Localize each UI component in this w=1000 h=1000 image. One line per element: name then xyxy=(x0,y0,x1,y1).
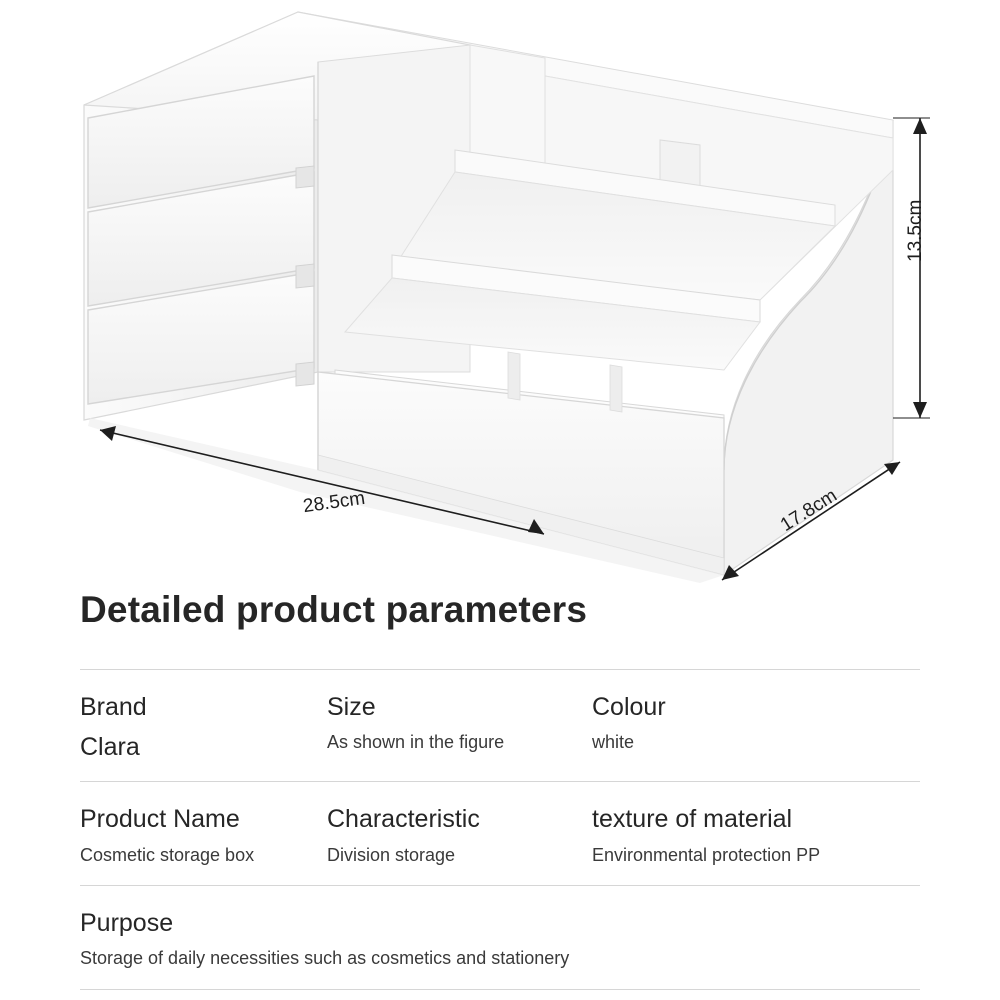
param-value: Storage of daily necessities such as cos… xyxy=(80,947,906,970)
param-value: Division storage xyxy=(327,844,578,867)
page-title: Detailed product parameters xyxy=(80,590,920,631)
param-cell-purpose: Purpose Storage of daily necessities suc… xyxy=(80,908,920,971)
param-key: Size xyxy=(327,692,578,723)
param-value: Cosmetic storage box xyxy=(80,844,313,867)
param-cell-material: texture of material Environmental protec… xyxy=(592,804,920,867)
storage-box-drawing xyxy=(0,0,1000,590)
param-key: Product Name xyxy=(80,804,313,835)
param-key: Brand xyxy=(80,692,313,723)
param-cell-characteristic: Characteristic Division storage xyxy=(327,804,592,867)
param-value: white xyxy=(592,731,906,754)
param-cell-product-name: Product Name Cosmetic storage box xyxy=(80,804,327,867)
param-key: texture of material xyxy=(592,804,906,835)
table-row: Purpose Storage of daily necessities suc… xyxy=(80,886,920,989)
param-cell-size: Size As shown in the figure xyxy=(327,692,592,764)
param-value: Clara xyxy=(80,731,313,764)
dimension-height-label: 13.5cm xyxy=(905,200,927,262)
product-illustration: 28.5cm 17.8cm 13.5cm xyxy=(0,0,1000,590)
table-row: Product Name Cosmetic storage box Charac… xyxy=(80,782,920,885)
parameters-section: Detailed product parameters Brand Clara … xyxy=(0,590,1000,990)
divider-bottom xyxy=(80,989,920,990)
param-key: Characteristic xyxy=(327,804,578,835)
param-key: Purpose xyxy=(80,908,906,939)
param-value: As shown in the figure xyxy=(327,731,578,754)
param-value: Environmental protection PP xyxy=(592,844,906,867)
param-key: Colour xyxy=(592,692,906,723)
param-cell-colour: Colour white xyxy=(592,692,920,764)
table-row: Brand Clara Size As shown in the figure … xyxy=(80,670,920,782)
param-cell-brand: Brand Clara xyxy=(80,692,327,764)
